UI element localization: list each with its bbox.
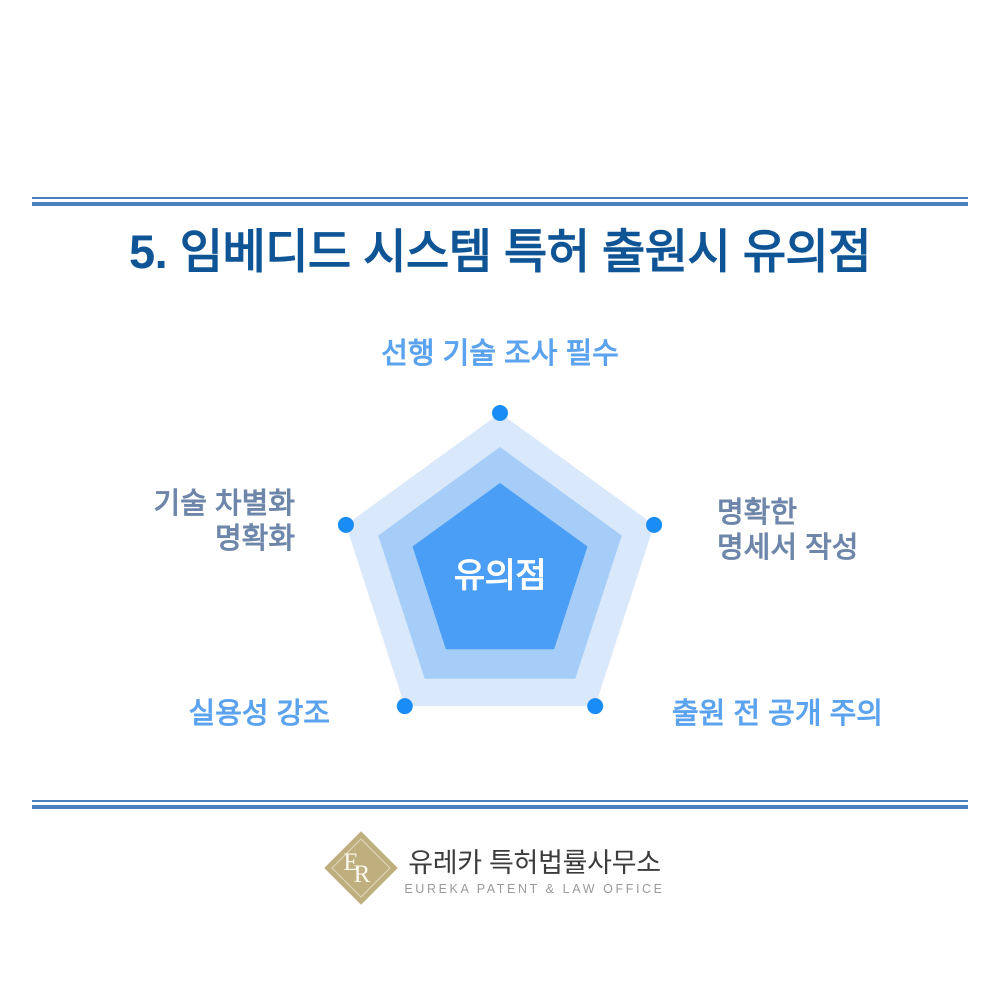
logo-name-korean: 유레카 특허법률사무소 bbox=[408, 841, 661, 880]
logo-name-english: EUREKA PATENT & LAW OFFICE bbox=[404, 882, 664, 896]
vertex-dot-top bbox=[492, 405, 508, 421]
logo-monogram-r: R bbox=[354, 862, 371, 887]
divider-bottom-thin-rule bbox=[32, 800, 968, 802]
axis-label-right-line2: 명세서 작성 bbox=[717, 531, 858, 566]
divider-top-thick-rule bbox=[32, 202, 968, 206]
logo-diamond-icon: E R bbox=[335, 842, 387, 894]
axis-label-left-line2: 명확화 bbox=[30, 522, 295, 557]
divider-top-thin-rule bbox=[32, 197, 968, 199]
axis-label-left-line1: 기술 차별화 bbox=[30, 487, 295, 522]
footer-logo: E R 유레카 특허법률사무소 EUREKA PATENT & LAW OFFI… bbox=[0, 828, 1000, 908]
axis-label-right: 명확한 명세서 작성 bbox=[717, 496, 858, 567]
vertex-dot-bottom-right bbox=[587, 698, 603, 714]
divider-top bbox=[32, 197, 968, 206]
vertex-dot-bottom-left bbox=[397, 698, 413, 714]
page-title: 5. 임베디드 시스템 특허 출원시 유의점 bbox=[0, 226, 1000, 278]
vertex-dot-right bbox=[646, 517, 662, 533]
axis-label-right-line1: 명확한 bbox=[717, 496, 858, 531]
axis-label-bottom-left: 실용성 강조 bbox=[30, 697, 330, 732]
logo-monogram: E R bbox=[335, 842, 387, 894]
axis-label-bottom-right: 출원 전 공개 주의 bbox=[672, 697, 883, 732]
divider-bottom-thick-rule bbox=[32, 805, 968, 809]
divider-bottom bbox=[32, 800, 968, 809]
vertex-dot-left bbox=[338, 517, 354, 533]
slide-canvas: 5. 임베디드 시스템 특허 출원시 유의점 유의점 선행 기술 조사 필수 명… bbox=[0, 0, 1000, 1000]
logo-text-block: 유레카 특허법률사무소 EUREKA PATENT & LAW OFFICE bbox=[404, 841, 664, 896]
axis-label-left: 기술 차별화 명확화 bbox=[30, 487, 295, 558]
axis-label-top: 선행 기술 조사 필수 bbox=[0, 337, 1000, 372]
pentagon-center-label: 유의점 bbox=[400, 548, 600, 597]
